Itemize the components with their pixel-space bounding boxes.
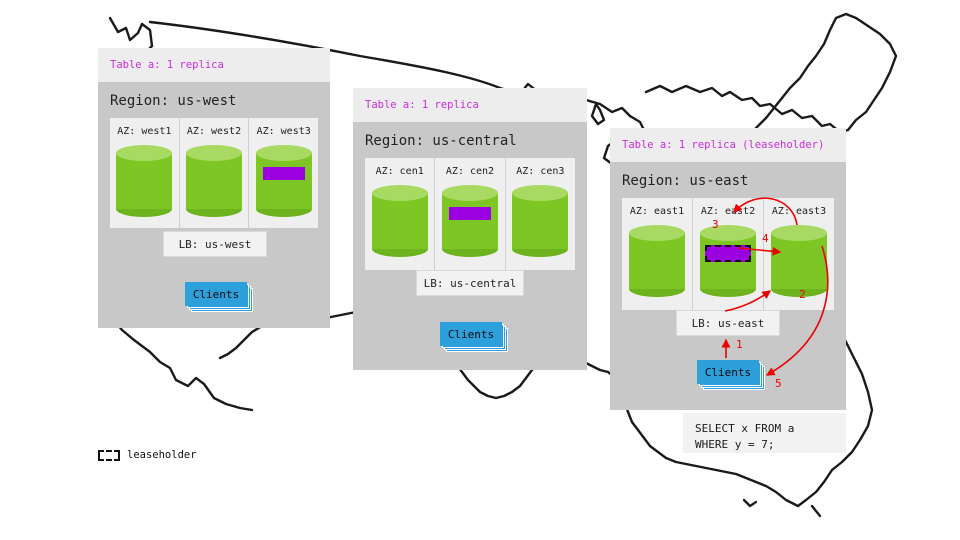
clients-label-us-central: Clients xyxy=(440,322,502,346)
lb-box-us-east[interactable]: LB: us-east xyxy=(676,310,780,336)
cylinder-top-icon xyxy=(372,185,428,201)
table-replica-label-us-east: Table a: 1 replica (leaseholder) xyxy=(622,139,824,151)
region-title-us-east: Region: us-east xyxy=(610,162,846,198)
step-number-4: 4 xyxy=(762,232,769,245)
table-replica-label-us-central: Table a: 1 replica xyxy=(365,99,479,111)
step-number-5: 5 xyxy=(775,377,782,390)
az-label-cen2: AZ: cen2 xyxy=(446,166,494,177)
az-cell-west1[interactable]: AZ: west1 xyxy=(110,118,180,228)
cylinder-west2 xyxy=(186,145,242,217)
panel-header-us-west: Table a: 1 replica xyxy=(98,48,330,82)
cylinder-body-icon xyxy=(442,193,498,249)
cylinder-top-icon xyxy=(256,145,312,161)
cylinder-body-icon xyxy=(256,153,312,209)
cylinder-east2 xyxy=(700,225,756,297)
az-label-west3: AZ: west3 xyxy=(257,126,311,137)
cylinder-top-icon xyxy=(700,225,756,241)
az-label-west1: AZ: west1 xyxy=(117,126,171,137)
step-number-2: 2 xyxy=(799,288,806,301)
replica-marker-west3 xyxy=(263,167,305,180)
cylinder-top-icon xyxy=(116,145,172,161)
legend-leaseholder: leaseholder xyxy=(98,449,197,461)
sql-query-box: SELECT x FROM a WHERE y = 7; xyxy=(683,413,846,453)
az-cell-west2[interactable]: AZ: west2 xyxy=(180,118,250,228)
replica-marker-cen2 xyxy=(449,207,491,220)
cylinder-body-icon xyxy=(372,193,428,249)
cylinder-body-icon xyxy=(771,233,827,289)
clients-stack-us-east[interactable]: Clients xyxy=(697,360,763,386)
panel-header-us-east: Table a: 1 replica (leaseholder) xyxy=(610,128,846,162)
clients-stack-us-west[interactable]: Clients xyxy=(185,282,251,308)
lb-box-us-west[interactable]: LB: us-west xyxy=(163,231,267,257)
cylinder-top-icon xyxy=(771,225,827,241)
az-label-cen1: AZ: cen1 xyxy=(376,166,424,177)
az-cell-cen1[interactable]: AZ: cen1 xyxy=(365,158,435,270)
az-row-us-central: AZ: cen1 AZ: cen2 AZ: cen3 xyxy=(365,158,575,270)
cylinder-cen2 xyxy=(442,185,498,257)
az-label-east1: AZ: east1 xyxy=(630,206,684,217)
cylinder-top-icon xyxy=(629,225,685,241)
az-row-us-west: AZ: west1 AZ: west2 AZ: west3 xyxy=(110,118,318,228)
az-label-east2: AZ: east2 xyxy=(701,206,755,217)
clients-label-us-west: Clients xyxy=(185,282,247,306)
lb-box-us-central[interactable]: LB: us-central xyxy=(416,270,524,296)
leaseholder-swatch-icon xyxy=(98,450,120,461)
cylinder-body-icon xyxy=(629,233,685,289)
az-cell-cen3[interactable]: AZ: cen3 xyxy=(506,158,575,270)
clients-stack-us-central[interactable]: Clients xyxy=(440,322,506,348)
az-label-west2: AZ: west2 xyxy=(187,126,241,137)
az-label-cen3: AZ: cen3 xyxy=(516,166,564,177)
cylinder-west3 xyxy=(256,145,312,217)
table-replica-label-us-west: Table a: 1 replica xyxy=(110,59,224,71)
az-cell-east2[interactable]: AZ: east2 xyxy=(693,198,764,310)
cylinder-body-icon xyxy=(116,153,172,209)
panel-header-us-central: Table a: 1 replica xyxy=(353,88,587,122)
cylinder-body-icon xyxy=(186,153,242,209)
az-cell-east1[interactable]: AZ: east1 xyxy=(622,198,693,310)
cylinder-cen1 xyxy=(372,185,428,257)
leaseholder-marker-east2 xyxy=(705,245,751,262)
diagram-canvas: Table a: 1 replica Region: us-west AZ: w… xyxy=(0,0,960,540)
az-label-east3: AZ: east3 xyxy=(772,206,826,217)
az-cell-west3[interactable]: AZ: west3 xyxy=(249,118,318,228)
cylinder-top-icon xyxy=(186,145,242,161)
cylinder-cen3 xyxy=(512,185,568,257)
region-title-us-central: Region: us-central xyxy=(353,122,587,158)
cylinder-east1 xyxy=(629,225,685,297)
region-title-us-west: Region: us-west xyxy=(98,82,330,118)
legend-label-leaseholder: leaseholder xyxy=(127,449,197,461)
az-cell-cen2[interactable]: AZ: cen2 xyxy=(435,158,505,270)
step-number-3: 3 xyxy=(712,218,719,231)
cylinder-top-icon xyxy=(442,185,498,201)
cylinder-top-icon xyxy=(512,185,568,201)
cylinder-west1 xyxy=(116,145,172,217)
step-number-1: 1 xyxy=(736,338,743,351)
cylinder-east3 xyxy=(771,225,827,297)
cylinder-body-icon xyxy=(512,193,568,249)
clients-label-us-east: Clients xyxy=(697,360,759,384)
